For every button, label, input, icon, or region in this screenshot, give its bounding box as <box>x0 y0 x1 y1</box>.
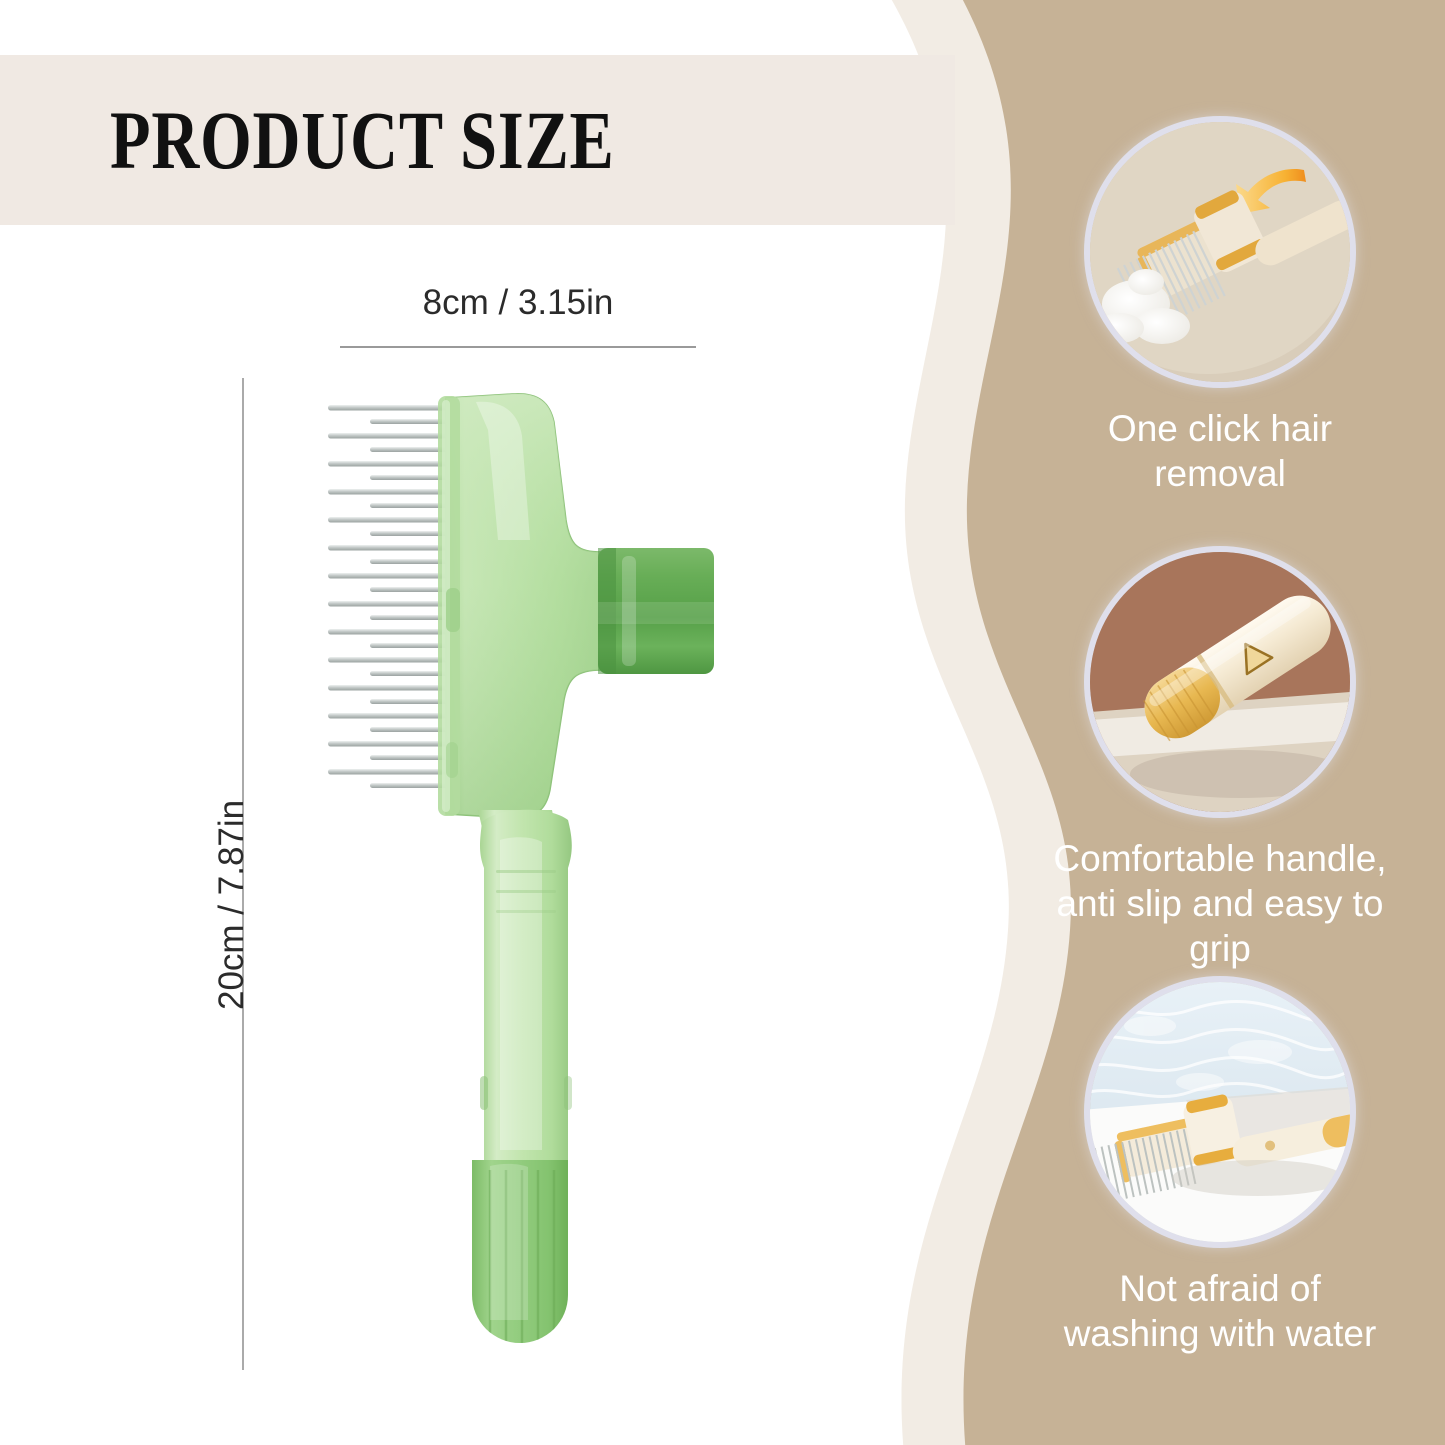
release-button <box>598 548 714 674</box>
ribbed-grip <box>472 1160 568 1345</box>
feature-washable: Not afraid of washing with water <box>1030 982 1410 1356</box>
page-title: PRODUCT SIZE <box>110 93 615 187</box>
feature-caption-one-click-hair-removal: One click hair removal <box>1030 406 1410 496</box>
feature-caption-comfortable-handle: Comfortable handle, anti slip and easy t… <box>1030 836 1410 971</box>
width-measure-line <box>340 346 696 348</box>
feature-comfortable-handle: Comfortable handle, anti slip and easy t… <box>1030 552 1410 971</box>
feature-image-one-click-hair-removal <box>1090 122 1350 382</box>
feature-caption-washable: Not afraid of washing with water <box>1030 1266 1410 1356</box>
handle <box>480 810 572 1160</box>
feature-image-washable <box>1090 982 1350 1242</box>
metal-pins <box>328 405 448 788</box>
feature-one-click-hair-removal: One click hair removal <box>1030 122 1410 496</box>
product-size-infographic: PRODUCT SIZE 8cm / 3.15in 20cm / 7.87in <box>0 0 1445 1445</box>
width-measure-label: 8cm / 3.15in <box>340 283 696 323</box>
height-measure-label: 20cm / 7.87in <box>212 800 252 1010</box>
feature-image-comfortable-handle <box>1090 552 1350 812</box>
product-illustration <box>250 370 770 1370</box>
